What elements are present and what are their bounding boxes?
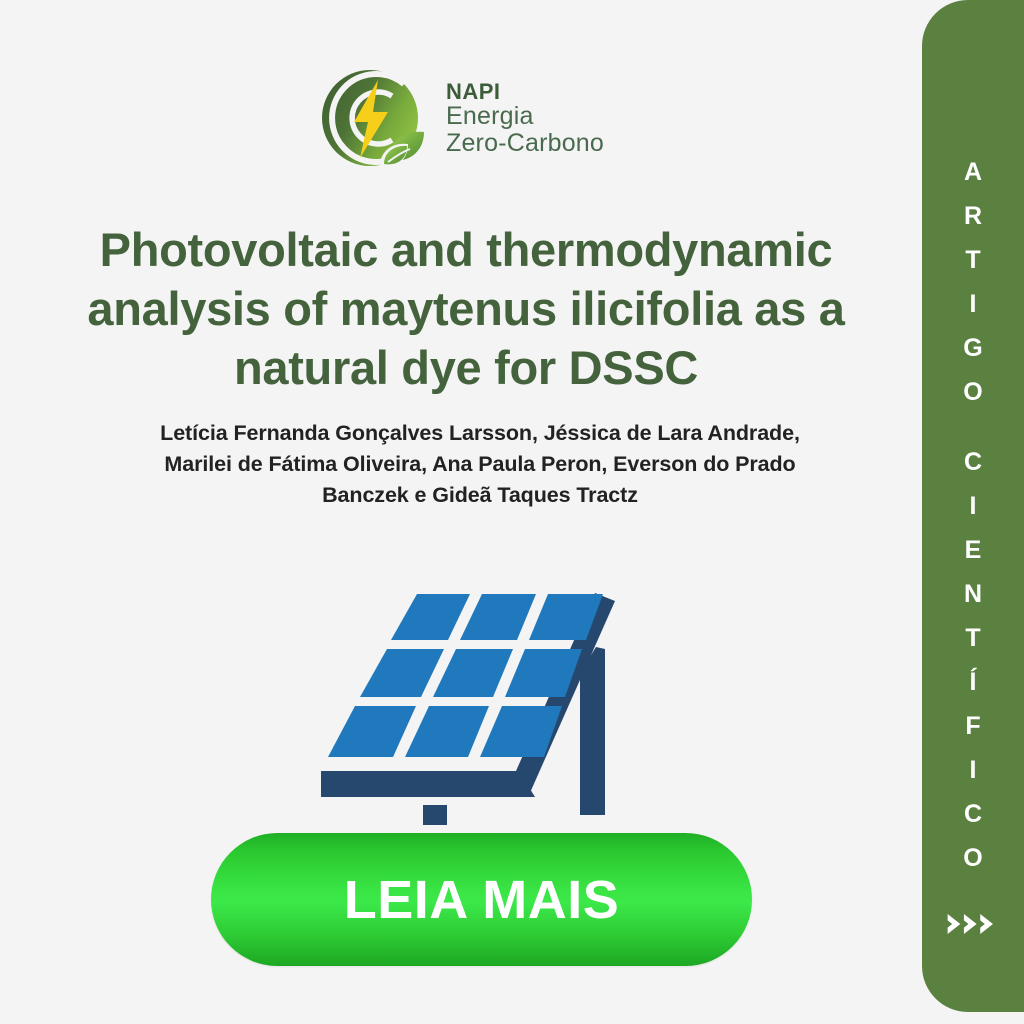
brand-logo: NAPI Energia Zero-Carbono: [0, 62, 922, 174]
ribbon-letter: I: [958, 484, 988, 528]
ribbon-letter: N: [958, 572, 988, 616]
ribbon-letter: R: [958, 194, 988, 238]
poster-canvas: NAPI Energia Zero-Carbono Photovoltaic a…: [0, 0, 1024, 1024]
triple-chevron-right-icon: [922, 912, 1024, 942]
ribbon-letter: Í: [958, 660, 988, 704]
brand-tagline-line1: Energia: [446, 103, 604, 130]
read-more-button[interactable]: LEIA MAIS: [211, 833, 752, 966]
ribbon-letter: T: [958, 238, 988, 282]
read-more-button-label: LEIA MAIS: [344, 869, 620, 931]
ribbon-letter: G: [958, 326, 988, 370]
ribbon-letter: T: [958, 616, 988, 660]
ribbon-letter: E: [958, 528, 988, 572]
ribbon-letter: C: [958, 792, 988, 836]
ribbon-letter: O: [958, 370, 988, 414]
ribbon-letter: C: [958, 440, 988, 484]
ribbon-letter: I: [958, 748, 988, 792]
ribbon-letter: A: [958, 150, 988, 194]
article-title: Photovoltaic and thermodynamic analysis …: [46, 220, 886, 397]
ribbon-word-cientifico: C I E N T Í F I C O: [958, 440, 988, 880]
brand-tagline-line2: Zero-Carbono: [446, 130, 604, 157]
ribbon-letter: O: [958, 836, 988, 880]
ribbon-letter: I: [958, 282, 988, 326]
solar-panel-icon: [303, 575, 673, 825]
ribbon-word-artigo: A R T I G O: [958, 150, 988, 414]
brand-name: NAPI: [446, 80, 604, 103]
napi-logo-icon: [318, 62, 434, 174]
article-category-ribbon: A R T I G O C I E N T Í F I C O: [922, 0, 1024, 1012]
ribbon-letter: F: [958, 704, 988, 748]
brand-logo-text: NAPI Energia Zero-Carbono: [446, 80, 604, 156]
article-authors: Letícia Fernanda Gonçalves Larsson, Jéss…: [150, 418, 810, 511]
